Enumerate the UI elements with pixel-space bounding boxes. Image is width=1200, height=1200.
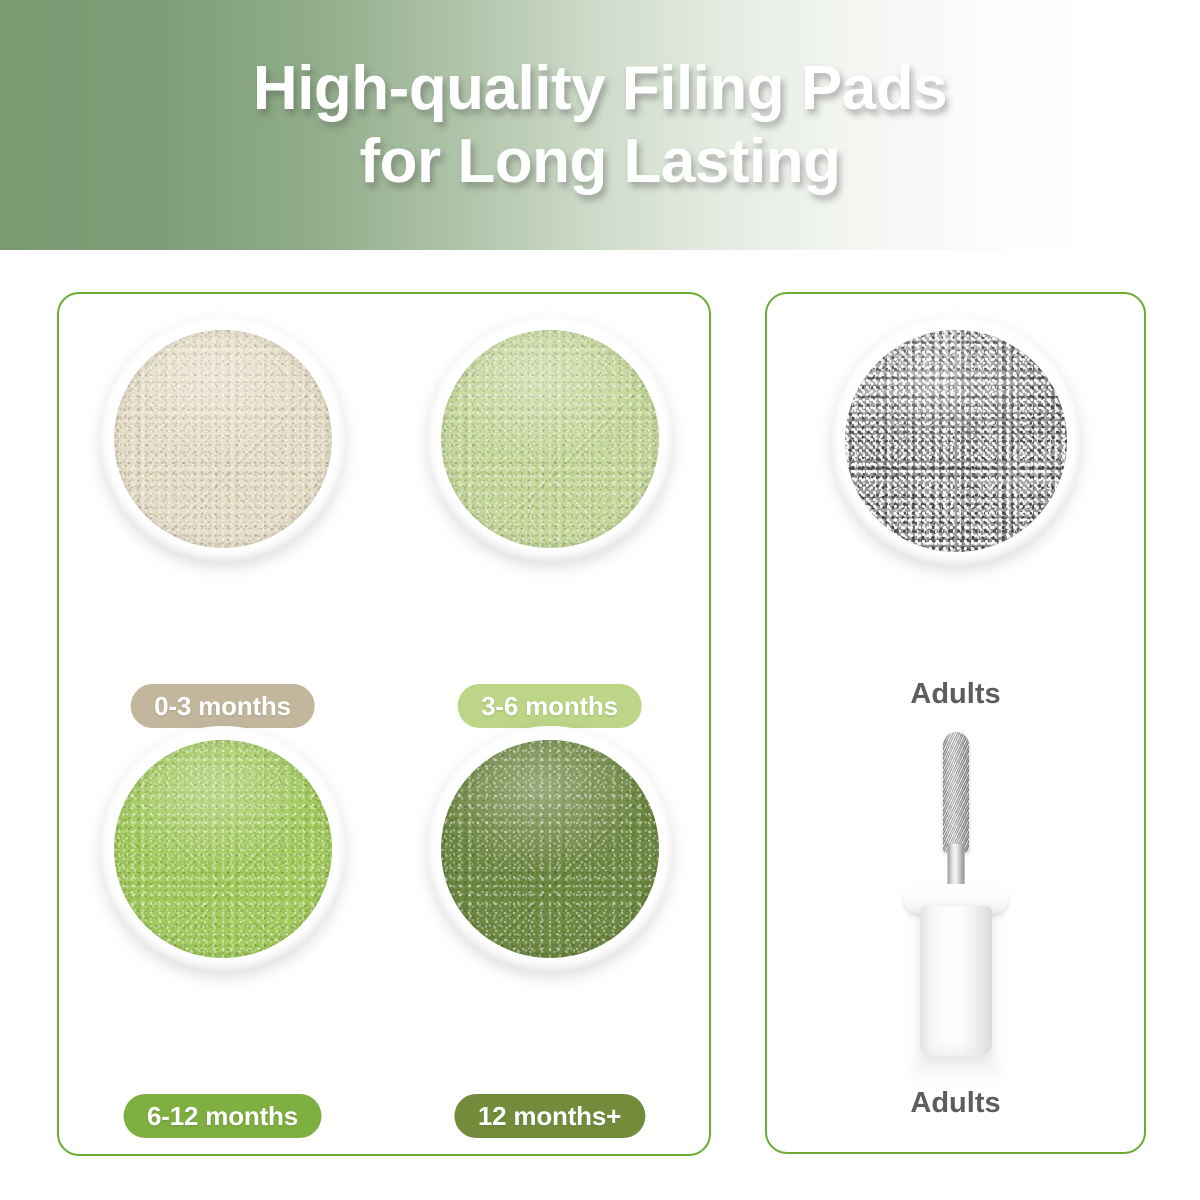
pad-surface [114,740,332,958]
pad-cell-0-3-months[interactable]: 0-3 months [59,316,386,562]
pad-cell-3-6-months[interactable]: 3-6 months [386,316,713,562]
pad-label-6-12-months: 6-12 months [123,1094,322,1138]
pad-surface-metal [845,330,1067,552]
page-title-line-2: for Long Lasting [359,125,840,198]
pad-cell-adults-bit[interactable]: Adults [767,732,1144,1112]
header-banner: High-quality Filing Pads for Long Lastin… [0,0,1200,250]
bit-diamond-tip [943,732,969,852]
page-title-line-1: High-quality Filing Pads [253,52,947,125]
pad-label-3-6-months: 3-6 months [457,684,642,728]
pad-surface [441,740,659,958]
pad-cell-12-months-plus[interactable]: 12 months+ [386,726,713,972]
pad-label-adults-disc: Adults [910,678,1000,711]
bit-body [920,906,992,1056]
pad-disc-6-12-months [100,726,346,972]
pad-reflection [128,964,318,1069]
pad-label-12-months-plus: 12 months+ [454,1094,645,1138]
pad-visual-6-12-months [59,726,386,972]
pad-reflection [455,964,645,1069]
pad-cell-6-12-months[interactable]: 6-12 months [59,726,386,972]
adult-attachments-panel: Adults Adults [765,292,1146,1154]
pad-reflection [455,554,645,659]
pad-label-0-3-months: 0-3 months [130,684,315,728]
diamond-bit-icon [896,732,1016,1032]
baby-pads-panel: 0-3 months 3-6 months 6-12 months 12 m [57,292,711,1156]
pad-disc-adults [831,316,1081,566]
bit-reflection [911,1048,1001,1090]
pad-surface [114,330,332,548]
pad-disc-3-6-months [427,316,673,562]
pad-reflection [128,554,318,659]
pad-visual-adults-disc [767,316,1144,566]
pad-visual-3-6-months [386,316,713,562]
pad-reflection [856,554,1056,659]
pad-label-adults-bit: Adults [910,1087,1000,1120]
pad-cell-adults-disc[interactable]: Adults [767,316,1144,566]
pad-surface [441,330,659,548]
pad-disc-12-months-plus [427,726,673,972]
pad-disc-0-3-months [100,316,346,562]
pad-visual-0-3-months [59,316,386,562]
pad-visual-12-months-plus [386,726,713,972]
